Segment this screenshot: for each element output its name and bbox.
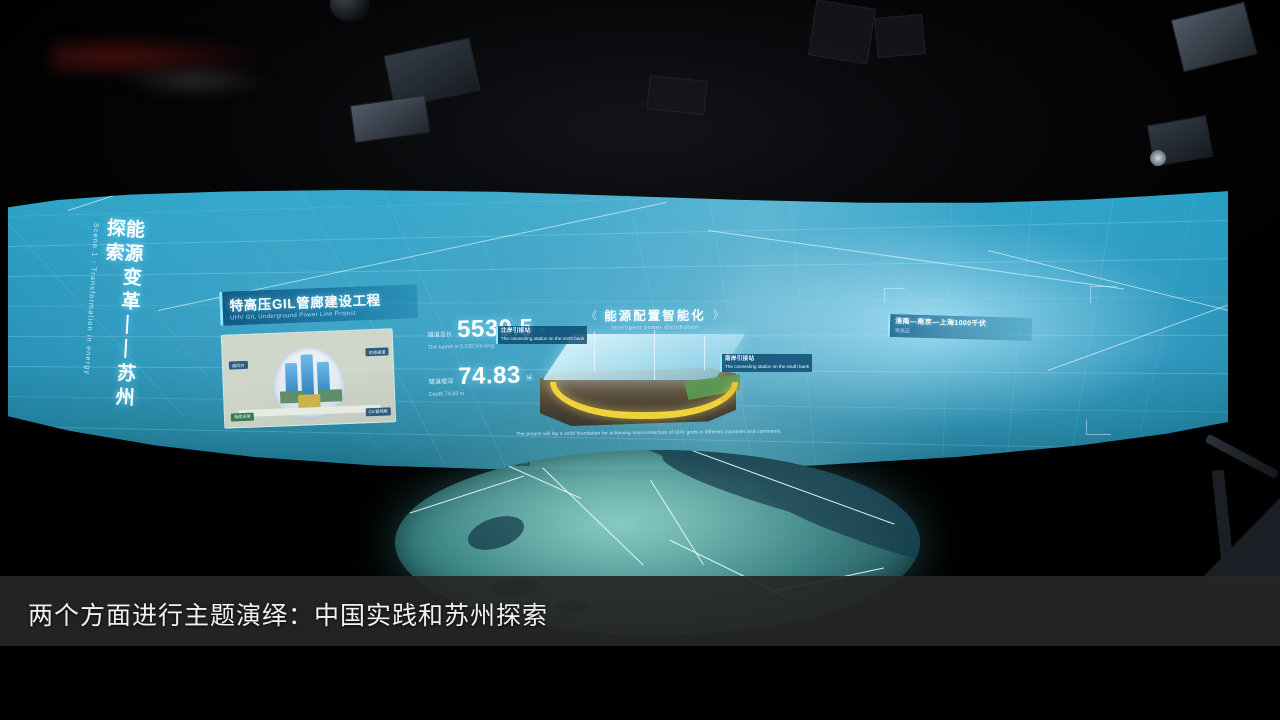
- center-title-cn: 能源配置智能化: [604, 305, 706, 325]
- center-section-title: 《 能源配置智能化 》 Intelligent power distributi…: [565, 304, 745, 331]
- tunnel-callout-south-en: The connecting station on the south bank: [725, 364, 809, 369]
- right-bracket-top: [1090, 286, 1117, 303]
- stat-value-1: 74.83: [458, 364, 521, 388]
- vertical-title-cn: 能源变革——苏州探索: [93, 217, 143, 419]
- ceiling-mount-left: [808, 0, 876, 64]
- right-line-label: 淮南—南京—上海1000千伏 特高压: [888, 314, 1033, 341]
- drawing-tag-1: 检修通道: [366, 347, 389, 356]
- tunnel-cross-section-drawing: 通风井 检修通道 电缆支架 GIL管线舱: [221, 328, 396, 429]
- drawing-tag-2: 电缆支架: [231, 412, 254, 421]
- chevron-left-icon: 《: [586, 307, 597, 323]
- tunnel-callout-south-cn: 南岸引接站: [725, 356, 809, 364]
- chevron-right-icon: 》: [713, 306, 724, 322]
- ceiling-mount-right: [874, 14, 925, 58]
- project-card-left: 特高压GIL管廊建设工程 UHV GIL Underground Power L…: [219, 284, 423, 447]
- stat-label-0: 隧道总长: [427, 331, 452, 342]
- tunnel-callout-north-cn: 北岸引接站: [501, 328, 584, 336]
- stat-label-1: 隧道埋深: [429, 378, 454, 389]
- ceiling-truss-light: [646, 75, 707, 115]
- tunnel-mast-1: [594, 332, 595, 372]
- screenshot-stage: Scene 1 : Transformation in energy 能源变革—…: [0, 0, 1280, 720]
- drawing-tag-0: 通风井: [229, 361, 248, 370]
- tunnel-3d-diagram: 北岸引接站 The connecting station on the nort…: [534, 330, 754, 440]
- wall-vertical-title: Scene 1 : Transformation in energy 能源变革—…: [46, 215, 178, 422]
- watermark-blob-secondary: [120, 68, 270, 94]
- tunnel-callout-south: 南岸引接站 The connecting station on the sout…: [720, 354, 812, 372]
- drawing-green-right: [318, 389, 342, 402]
- project-card-header: 特高压GIL管廊建设工程 UHV GIL Underground Power L…: [219, 284, 418, 326]
- drawing-tag-3: GIL管线舱: [365, 407, 391, 416]
- subtitle-text: 两个方面进行主题演绎：中国实践和苏州探索: [28, 596, 548, 632]
- tunnel-mast-3: [704, 336, 705, 370]
- left-bracket-top: [884, 288, 905, 303]
- stat-unit-1: 米: [526, 373, 533, 387]
- right-bracket-bottom: [1086, 420, 1111, 435]
- tunnel-callout-north: 北岸引接站 The connecting station on the nort…: [496, 326, 587, 344]
- tunnel-callout-north-en: The connecting station on the north bank: [501, 336, 584, 341]
- floor-map-label: 苏州: [515, 458, 530, 466]
- tunnel-mast-2: [654, 330, 655, 380]
- ceiling-spot-lamp: [1150, 150, 1166, 166]
- bottom-letterbox: [0, 646, 1280, 720]
